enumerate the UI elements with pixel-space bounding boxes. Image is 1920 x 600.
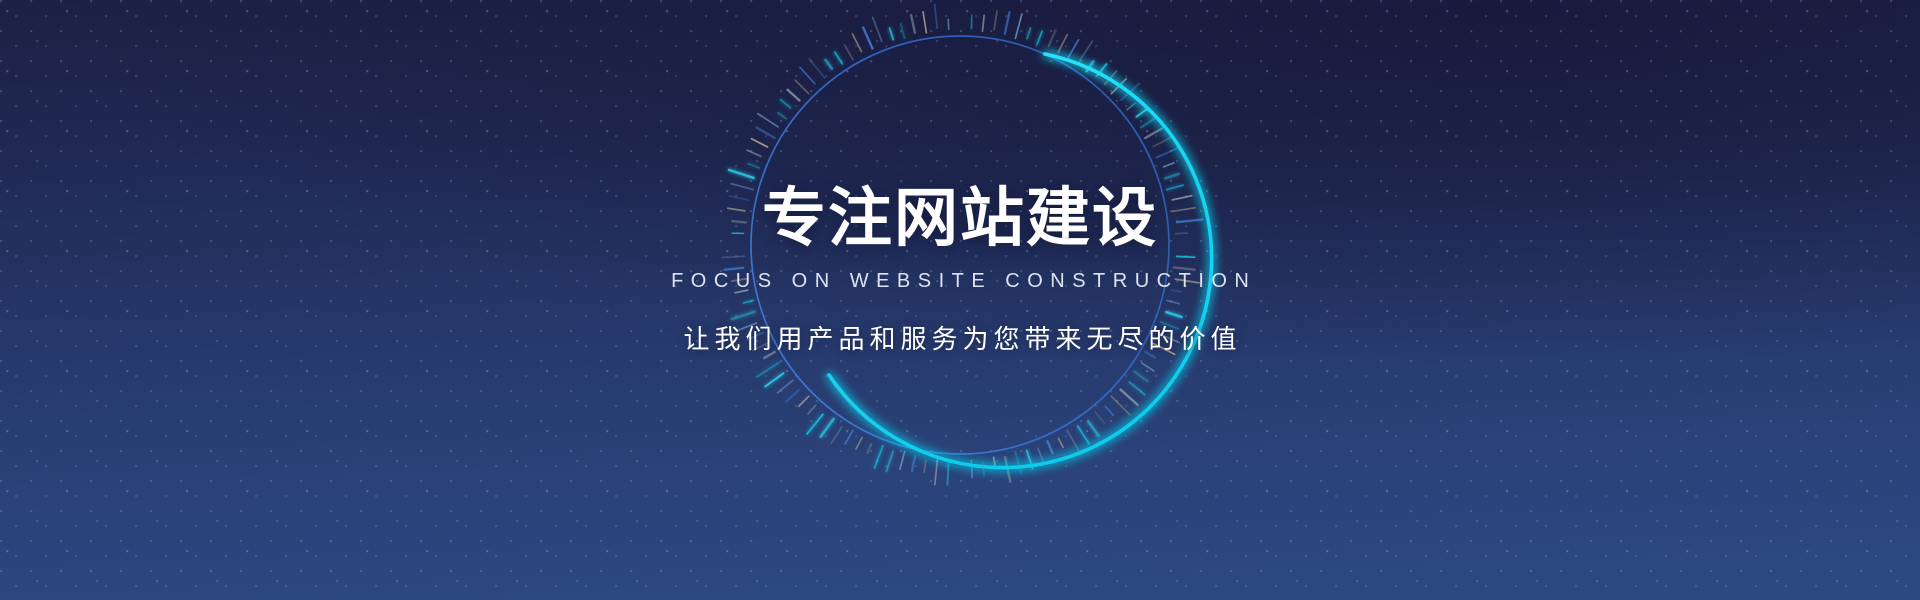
ring-tick [752,139,768,147]
ring-tick [873,17,882,41]
ring-tick [1105,406,1113,415]
ring-tick [1027,28,1030,38]
ring-tick [1121,390,1138,405]
ring-tick [1038,449,1044,464]
ring-tick [821,419,834,437]
ring-tick [994,11,997,30]
ring-tick [886,451,892,471]
ring-tick [809,58,825,77]
ring-tick [935,459,938,485]
ring-tick [845,45,854,60]
ring-tick [799,396,809,406]
ring-tick [1088,421,1099,436]
ring-tick [808,406,815,414]
ring-tick [748,164,759,168]
page-tagline: 让我们用产品和服务为您带来无尽的价值 [0,319,1920,356]
ring-tick [901,24,905,38]
ring-tick [923,12,926,33]
ring-tick [1121,84,1139,100]
ring-tick [1165,174,1178,178]
ring-tick [1141,119,1154,128]
ring-tick [867,444,871,453]
ring-tick [1058,35,1067,53]
ring-tick [863,28,872,49]
hero-banner: 专注网站建设 FOCUS ON WEBSITE CONSTRUCTION 让我们… [0,0,1920,600]
ring-tick [780,100,790,108]
page-subtitle-english: FOCUS ON WEBSITE CONSTRUCTION [0,270,1920,293]
ring-tick [807,414,823,433]
ring-tick [1027,450,1033,468]
ring-tick [1015,452,1021,473]
ring-tick [757,363,779,377]
ring-tick [971,15,972,28]
ring-tick [1037,31,1042,44]
ring-tick [777,380,793,393]
ring-tick [1142,363,1154,371]
ring-tick [1164,163,1174,167]
ring-tick [856,437,862,449]
ring-tick [1005,457,1010,481]
ring-tick [788,90,800,101]
ring-tick [1129,382,1145,395]
ring-tick [795,80,808,93]
ring-tick [1136,109,1147,117]
ring-tick [1049,30,1056,46]
hero-content: 专注网站建设 FOCUS ON WEBSITE CONSTRUCTION 让我们… [0,186,1920,356]
ring-tick [900,452,905,469]
ring-tick [831,427,841,443]
ring-tick [1067,40,1079,60]
ring-tick [1078,426,1089,444]
ring-tick [935,4,938,28]
ring-tick [1127,103,1135,109]
ring-tick [947,462,948,485]
ring-tick [729,170,754,178]
ring-tick [1067,430,1079,451]
ring-tick [1095,412,1104,424]
ring-tick [1111,79,1126,94]
ring-tick [948,19,949,29]
ring-tick [924,460,926,472]
ring-tick [747,150,761,156]
ring-tick [1134,371,1148,381]
ring-tick [758,114,778,127]
ring-tick [786,390,799,401]
ring-tick [1156,147,1179,157]
ring-tick [911,15,915,33]
ring-tick [835,52,843,64]
ring-tick [1015,14,1021,38]
ring-tick [983,462,984,476]
ring-tick [1153,137,1173,147]
ring-tick [912,456,915,471]
ring-tick [1078,41,1092,63]
ring-tick [1086,61,1093,71]
ring-tick [994,457,996,468]
ring-tick [1145,129,1161,139]
page-title: 专注网站建设 [0,186,1920,254]
ring-tick [852,34,861,52]
ring-tick [1097,64,1106,76]
ring-tick [756,128,774,139]
ring-tick [982,15,984,31]
ring-tick [778,113,786,119]
ring-tick [800,67,815,83]
ring-tick [1059,438,1064,447]
ring-tick [971,461,972,478]
ring-tick [765,373,784,387]
ring-tick [845,430,853,444]
ring-tick [1005,12,1010,34]
ring-tick [1111,396,1129,414]
ring-tick [825,60,831,69]
ring-tick [1047,441,1052,453]
ring-tick [890,28,894,39]
ring-tick [1105,71,1117,84]
ring-tick [874,446,883,468]
